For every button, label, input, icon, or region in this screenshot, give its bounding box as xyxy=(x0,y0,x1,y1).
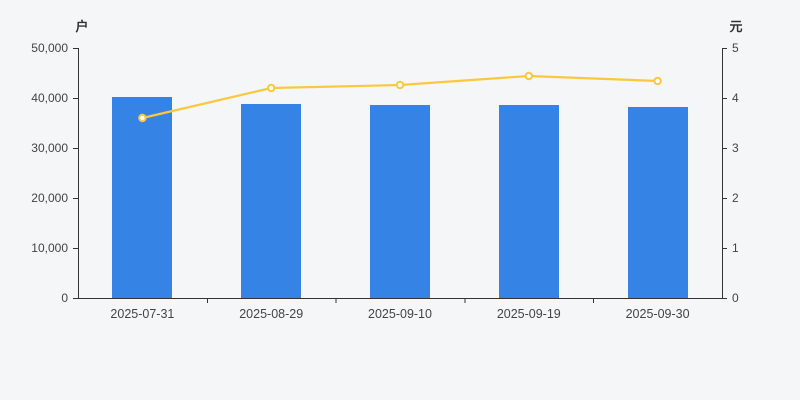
chart-container: 010,00020,00030,00040,00050,000012345202… xyxy=(0,0,800,400)
bar-2025-09-30[interactable] xyxy=(628,107,688,298)
y-axis-right-tick-label: 2 xyxy=(732,191,739,205)
y-axis-left-tick-label: 20,000 xyxy=(31,191,68,205)
bar-2025-07-31[interactable] xyxy=(112,97,172,298)
y-axis-right-tick-label: 5 xyxy=(732,41,739,55)
y-axis-right-tick-label: 0 xyxy=(732,291,739,305)
y-axis-right-tick-label: 1 xyxy=(732,241,739,255)
y-axis-right-tick-label: 4 xyxy=(732,91,739,105)
bar-2025-08-29[interactable] xyxy=(241,104,301,299)
y-axis-right-unit-label: 元 xyxy=(729,19,742,34)
y-axis-left-unit-label: 户 xyxy=(75,19,88,34)
x-axis-tick-label-2025-09-30: 2025-09-30 xyxy=(626,307,690,321)
line-marker-2025-07-31[interactable] xyxy=(139,115,145,121)
y-axis-left-tick-label: 0 xyxy=(61,291,68,305)
bar-series-group xyxy=(112,97,688,299)
chart-canvas: 010,00020,00030,00040,00050,000012345202… xyxy=(0,0,800,400)
x-axis-tick-label-2025-09-19: 2025-09-19 xyxy=(497,307,561,321)
bar-2025-09-19[interactable] xyxy=(499,105,559,298)
x-axis-tick-label-2025-07-31: 2025-07-31 xyxy=(110,307,174,321)
line-marker-2025-09-19[interactable] xyxy=(526,73,532,79)
x-axis-tick-label-2025-09-10: 2025-09-10 xyxy=(368,307,432,321)
y-axis-left-tick-label: 40,000 xyxy=(31,91,68,105)
bar-2025-09-10[interactable] xyxy=(370,105,430,299)
line-marker-2025-08-29[interactable] xyxy=(268,85,274,91)
line-marker-2025-09-30[interactable] xyxy=(654,78,660,84)
y-axis-left-tick-label: 50,000 xyxy=(31,41,68,55)
y-axis-left-tick-label: 30,000 xyxy=(31,141,68,155)
x-axis-tick-label-2025-08-29: 2025-08-29 xyxy=(239,307,303,321)
y-axis-left-tick-label: 10,000 xyxy=(31,241,68,255)
y-axis-right-tick-label: 3 xyxy=(732,141,739,155)
line-marker-2025-09-10[interactable] xyxy=(397,82,403,88)
